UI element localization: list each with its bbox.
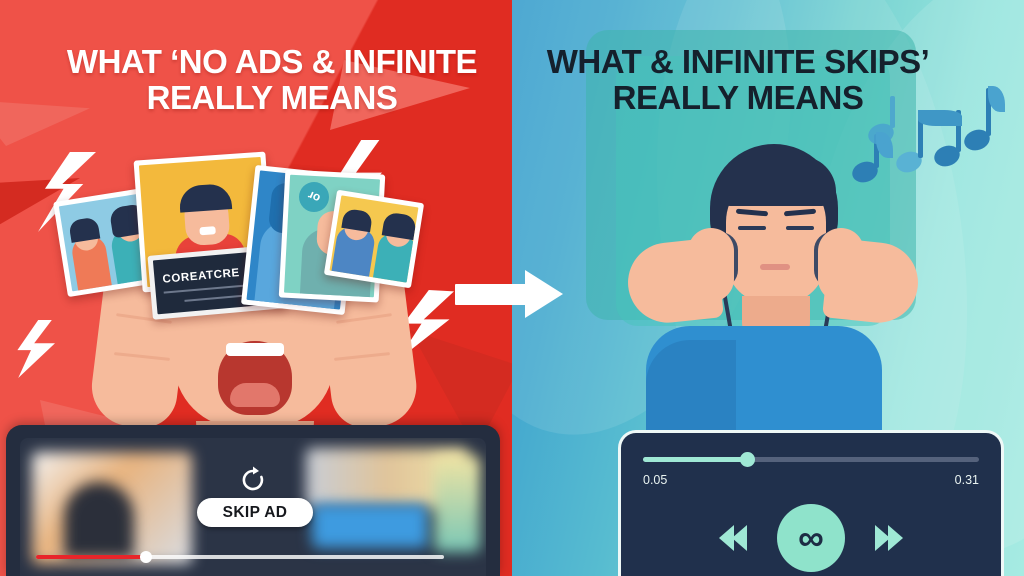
music-progress-fill <box>643 457 747 462</box>
ad-progress-bar[interactable] <box>36 555 444 559</box>
hair-fringe <box>716 156 836 206</box>
arrow-head-icon <box>525 270 563 318</box>
right-headline: WHAT & INFINITE SKIPS’ REALLY MEANS <box>528 44 948 117</box>
right-headline-line2: REALLY MEANS <box>528 80 948 116</box>
blurred-thumbnail <box>64 482 134 558</box>
tongue <box>230 383 280 407</box>
music-player: 0.05 0.31 ∞ <box>618 430 1004 576</box>
arrow-shaft <box>455 284 533 305</box>
figure <box>382 211 417 240</box>
shirt-shade <box>646 340 736 442</box>
figure <box>199 226 216 235</box>
music-progress-bar[interactable] <box>643 457 979 462</box>
collage-photo-yellow <box>324 190 424 289</box>
skip-ad-label: SKIP AD <box>223 504 288 522</box>
photo-collage: COREATCRE <box>58 150 418 380</box>
right-headline-line1: WHAT & INFINITE SKIPS’ <box>528 44 948 80</box>
figure <box>68 217 100 243</box>
music-controls: ∞ <box>621 499 1001 576</box>
collage-badge-text: or <box>306 188 323 206</box>
left-headline-line2: REALLY MEANS <box>22 80 522 116</box>
infinite-skips-button[interactable]: ∞ <box>777 504 845 572</box>
ad-progress-fill <box>36 555 146 559</box>
figure <box>178 183 232 213</box>
fast-forward-button[interactable] <box>875 525 903 551</box>
collage-card-label: COREATCRE <box>162 267 240 286</box>
rewind-button[interactable] <box>719 525 747 551</box>
left-hand <box>688 228 734 302</box>
closed-eye <box>738 226 766 230</box>
music-time-current: 0.05 <box>643 473 667 487</box>
promo-image: COREATCRE <box>0 0 1024 576</box>
replay-arrow-icon[interactable] <box>238 465 268 495</box>
mouth <box>760 264 790 270</box>
left-headline-line1: WHAT ‘NO ADS & INFINITE <box>22 44 522 80</box>
closed-eye <box>786 226 814 230</box>
music-progress-handle[interactable] <box>740 452 755 467</box>
infinity-icon: ∞ <box>798 520 824 556</box>
fast-forward-icon <box>888 525 903 551</box>
skip-ad-button[interactable]: SKIP AD <box>197 498 313 527</box>
transition-arrow <box>455 270 575 318</box>
figure <box>341 208 373 232</box>
blurred-thumbnail <box>434 456 480 552</box>
left-headline: WHAT ‘NO ADS & INFINITE REALLY MEANS <box>22 44 522 117</box>
blurred-thumbnail <box>312 504 428 548</box>
music-time-total: 0.31 <box>955 473 979 487</box>
rewind-icon <box>732 525 747 551</box>
right-hand <box>818 228 864 302</box>
